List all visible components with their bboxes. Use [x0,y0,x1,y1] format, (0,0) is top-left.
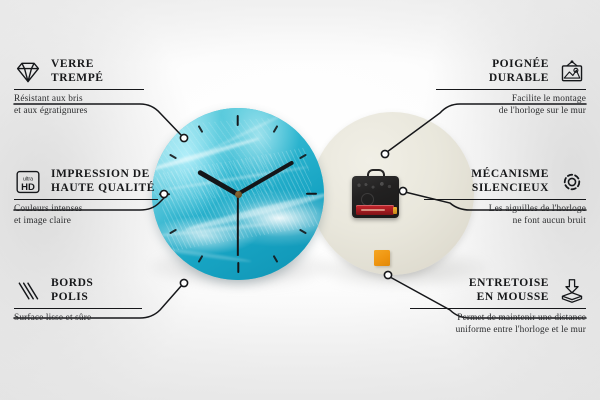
feature-bords-polis: BORDS POLIS Surface lisse et sûre [14,277,219,325]
gear-icon [558,169,586,195]
feature-divider [424,199,586,200]
ultra-hd-icon: ultra HD [14,169,42,195]
feature-divider [14,89,144,90]
feature-title: MÉCANISME SILENCIEUX [471,168,549,195]
feature-heading: MÉCANISME SILENCIEUX [381,168,586,195]
feature-heading: POIGNÉE DURABLE [381,58,586,85]
feature-divider [410,308,586,309]
clock-center-cap [235,191,242,198]
feature-verre-trempe: VERRE TREMPÉ Résistant aux bris et aux é… [14,58,219,117]
feature-description: Couleurs intenses et image claire [14,204,219,227]
foam-spacer-icon [558,278,586,304]
diamond-icon [14,59,42,85]
feature-poignee: POIGNÉE DURABLE Facilite le montage de l… [381,58,586,117]
feature-title: BORDS POLIS [51,277,93,304]
feature-divider [14,308,142,309]
clock-tick [238,193,324,195]
clock-second-hand [237,194,239,256]
feature-divider [14,199,158,200]
feature-title: VERRE TREMPÉ [51,58,104,85]
picture-hanger-icon [558,59,586,85]
feature-description: Permet de maintenir une distance uniform… [381,313,586,336]
feature-entretoise: ENTRETOISE EN MOUSSE Permet de maintenir… [381,277,586,336]
background-top-shade [0,0,600,64]
feature-description: Surface lisse et sûre [14,313,219,324]
feature-heading: BORDS POLIS [14,277,219,304]
feature-heading: ultra HD IMPRESSION DE HAUTE QUALITÉ [14,168,219,195]
feature-description: Résistant aux bris et aux égratignures [14,94,219,117]
feature-description: Les aiguilles de l'horloge ne font aucun… [381,204,586,227]
feature-title: POIGNÉE DURABLE [489,58,549,85]
feature-divider [436,89,586,90]
feature-title: ENTRETOISE EN MOUSSE [469,277,549,304]
feature-description: Facilite le montage de l'horloge sur le … [381,94,586,117]
svg-text:HD: HD [21,181,35,192]
feature-impression: ultra HD IMPRESSION DE HAUTE QUALITÉ Cou… [14,168,219,227]
polished-edges-icon [14,278,42,304]
feature-mecanisme: MÉCANISME SILENCIEUX Les aiguilles de l'… [381,168,586,227]
infographic-canvas: VERRE TREMPÉ Résistant aux bris et aux é… [0,0,600,400]
feature-heading: ENTRETOISE EN MOUSSE [381,277,586,304]
feature-title: IMPRESSION DE HAUTE QUALITÉ [51,168,155,195]
clock-tick [237,108,239,194]
feature-heading: VERRE TREMPÉ [14,58,219,85]
foam-spacer [374,250,390,266]
